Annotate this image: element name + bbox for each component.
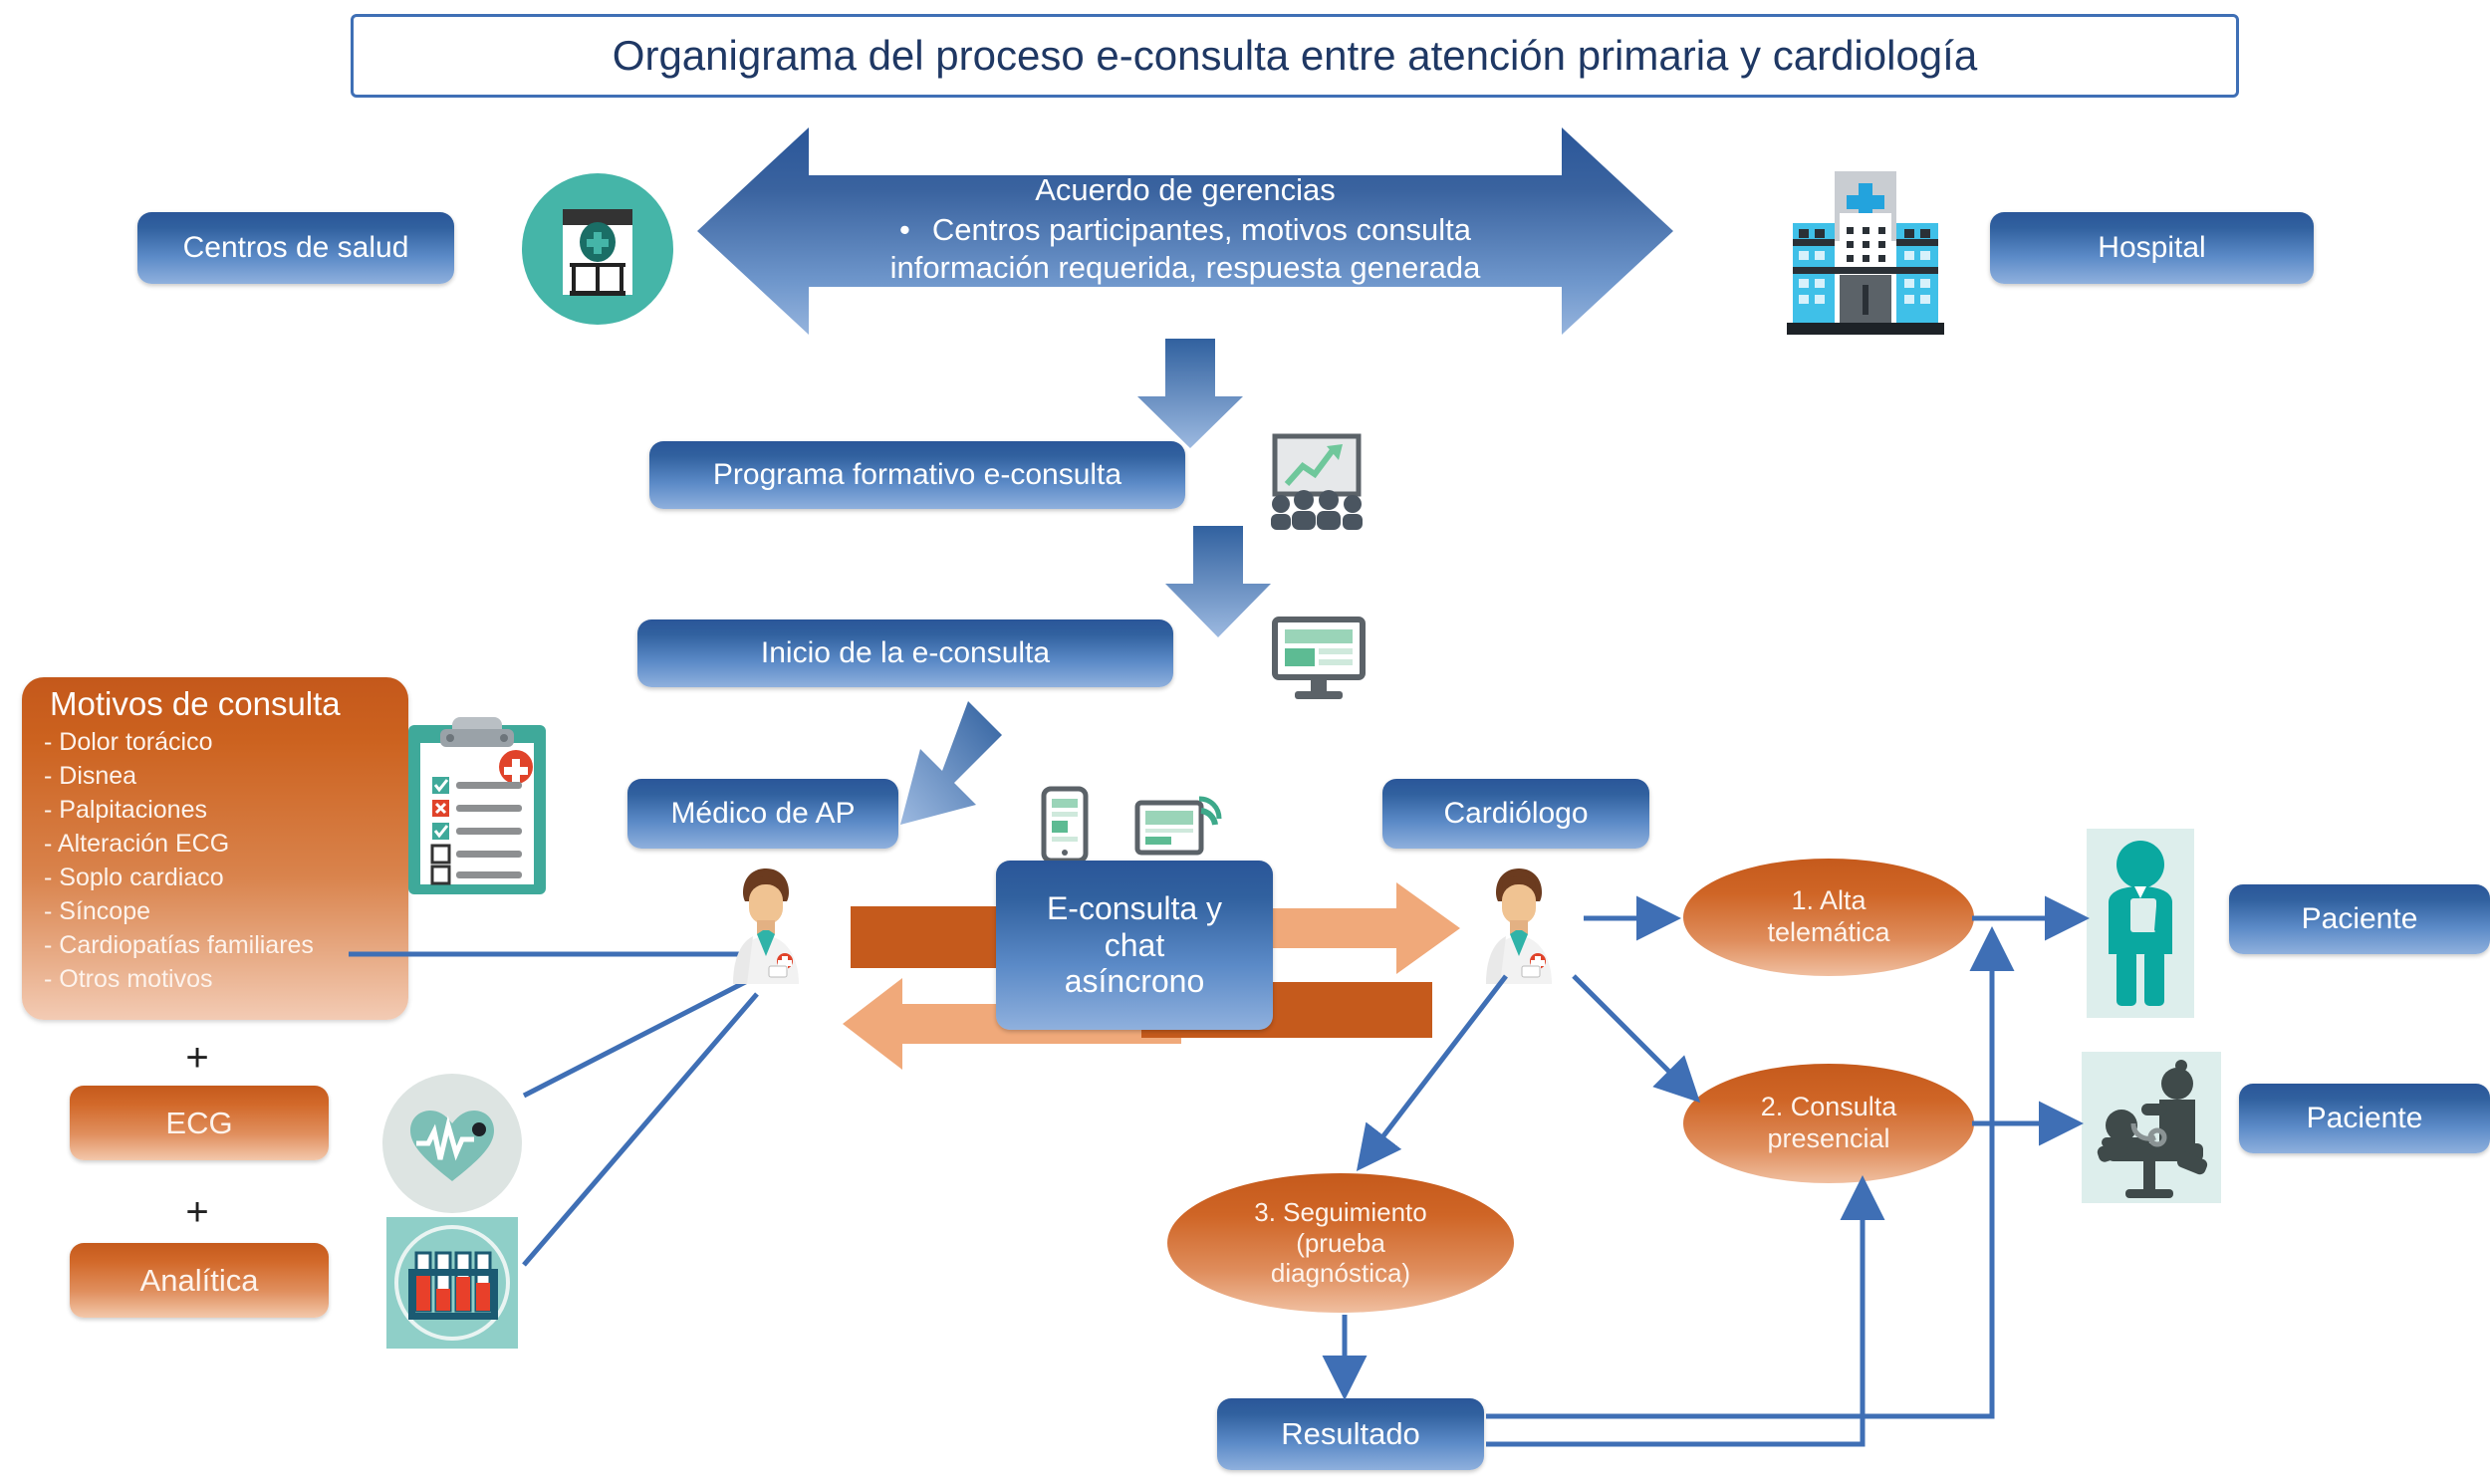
econsulta-chat-box[interactable]: E-consulta y chat asíncrono — [996, 861, 1273, 1030]
paciente-top-box[interactable]: Paciente — [2229, 884, 2490, 954]
inicio-econsulta-label: Inicio de la e-consulta — [761, 636, 1050, 671]
alta-telematica-ellipse[interactable]: 1. Alta telemática — [1683, 859, 1974, 976]
paciente-top-label: Paciente — [2302, 902, 2418, 937]
econsulta-line3: asíncrono — [1065, 963, 1205, 1000]
patient-examination-icon — [2082, 1052, 2221, 1203]
inicio-econsulta-box[interactable]: Inicio de la e-consulta — [637, 619, 1173, 687]
doctor-avatar-icon — [1472, 859, 1566, 984]
doctor-avatar-icon — [719, 859, 813, 984]
agreement-line1: Centros participantes, motivos consulta — [932, 212, 1471, 248]
cardiologo-label: Cardiólogo — [1443, 797, 1588, 832]
down-arrow-1 — [1135, 339, 1245, 448]
motivos-list-item: - Palpitaciones — [44, 793, 408, 827]
analitica-box[interactable]: Analítica — [70, 1243, 329, 1318]
motivos-list-item: - Disnea — [44, 759, 408, 793]
medico-ap-box[interactable]: Médico de AP — [627, 779, 898, 849]
agreement-arrow: Acuerdo de gerencias • Centros participa… — [697, 127, 1673, 335]
alta-telematica-line2: telemática — [1767, 917, 1889, 949]
hospital-box[interactable]: Hospital — [1990, 212, 2314, 284]
seguimiento-line2: (prueba — [1296, 1228, 1385, 1259]
clipboard-checklist-icon — [406, 715, 548, 896]
motivos-list-item: - Soplo cardiaco — [44, 861, 408, 894]
econsulta-line2: chat — [1105, 927, 1164, 964]
seguimiento-ellipse[interactable]: 3. Seguimiento (prueba diagnóstica) — [1167, 1173, 1514, 1313]
hospital-label: Hospital — [2098, 231, 2205, 266]
smartphone-icon — [1042, 787, 1088, 863]
paciente-bottom-box[interactable]: Paciente — [2239, 1084, 2490, 1153]
motivos-consulta-title: Motivos de consulta — [22, 685, 408, 723]
seguimiento-line1: 3. Seguimiento — [1254, 1197, 1426, 1228]
programa-formativo-label: Programa formativo e-consulta — [713, 458, 1121, 493]
standing-patient-icon — [2087, 829, 2194, 1018]
ecg-label: ECG — [165, 1106, 232, 1141]
health-center-icon — [520, 173, 675, 325]
centros-de-salud-box[interactable]: Centros de salud — [137, 212, 454, 284]
left-connector-lines — [329, 936, 797, 1335]
down-arrow-2 — [1163, 526, 1273, 637]
medico-ap-label: Médico de AP — [670, 797, 855, 832]
resultado-box[interactable]: Resultado — [1217, 1398, 1484, 1470]
consulta-presencial-ellipse[interactable]: 2. Consulta presencial — [1683, 1064, 1974, 1183]
agreement-bullet: • — [899, 212, 910, 248]
plus-sign-2: + — [167, 1190, 227, 1235]
alta-telematica-line1: 1. Alta — [1791, 885, 1866, 917]
plus-sign-1: + — [167, 1036, 227, 1081]
seguimiento-line3: diagnóstica) — [1271, 1258, 1410, 1289]
agreement-heading: Acuerdo de gerencias — [1035, 172, 1336, 208]
cardiologo-box[interactable]: Cardiólogo — [1382, 779, 1649, 849]
motivos-list-item: - Dolor torácico — [44, 725, 408, 759]
motivos-list-item: - Alteración ECG — [44, 827, 408, 861]
tablet-wifi-icon — [1135, 793, 1221, 859]
presentation-audience-icon — [1259, 434, 1370, 530]
consulta-presencial-line2: presencial — [1767, 1123, 1889, 1155]
consulta-presencial-line1: 2. Consulta — [1761, 1092, 1897, 1123]
desktop-monitor-icon — [1273, 618, 1365, 703]
page-title-frame: Organigrama del proceso e-consulta entre… — [351, 14, 2239, 98]
agreement-line2: información requerida, respuesta generad… — [890, 250, 1481, 286]
resultado-label: Resultado — [1281, 1416, 1420, 1452]
analitica-label: Analítica — [140, 1263, 259, 1299]
programa-formativo-box[interactable]: Programa formativo e-consulta — [649, 441, 1185, 509]
paciente-bottom-label: Paciente — [2307, 1102, 2423, 1136]
ecg-box[interactable]: ECG — [70, 1086, 329, 1160]
centros-de-salud-label: Centros de salud — [183, 231, 409, 266]
hospital-icon — [1783, 167, 1948, 337]
motivos-list-item: - Síncope — [44, 894, 408, 928]
page-title: Organigrama del proceso e-consulta entre… — [613, 32, 1977, 80]
econsulta-line1: E-consulta y — [1047, 890, 1222, 927]
